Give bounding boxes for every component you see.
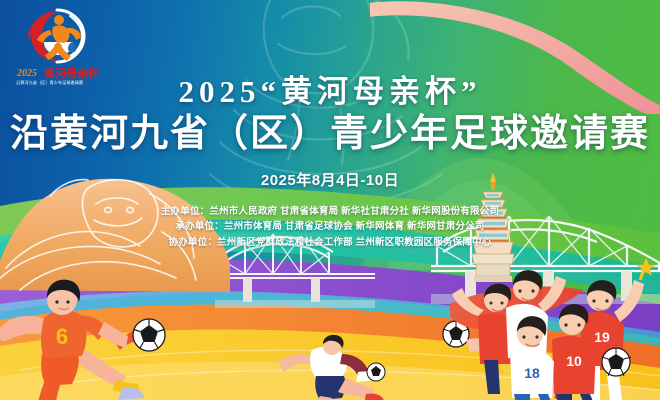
player-group-celebrating: 13 19 — [444, 254, 660, 400]
player-center-kicking — [272, 328, 392, 400]
event-logo[interactable]: 2025 黄河母亲杯 沿黄河九省（区）青少年足球邀请赛 — [14, 8, 100, 86]
poster-text-block: 2025“黄河母亲杯” 沿黄河九省（区）青少年足球邀请赛 2025年8月4日-1… — [0, 76, 660, 250]
organizer-row-undertaker: 承办单位：兰州市体育局 甘肃省足球协会 新华网体育 新华网甘肃分公司 — [0, 219, 660, 234]
organizer-list: 主办单位：兰州市人民政府 甘肃省体育局 新华社甘肃分社 新华网股份有限公司 承办… — [0, 204, 660, 250]
svg-text:沿黄河九省（区）青少年足球邀请赛: 沿黄河九省（区）青少年足球邀请赛 — [16, 79, 84, 86]
svg-text:19: 19 — [594, 329, 610, 345]
svg-text:黄河母亲杯: 黄河母亲杯 — [44, 66, 100, 80]
event-logo-emblem-icon — [26, 8, 88, 64]
poster-banner: 6 — [0, 0, 660, 400]
svg-text:18: 18 — [524, 365, 540, 381]
organizer-row-host: 主办单位：兰州市人民政府 甘肃省体育局 新华社甘肃分社 新华网股份有限公司 — [0, 204, 660, 219]
page-subtitle: 沿黄河九省（区）青少年足球邀请赛 — [0, 113, 660, 156]
svg-text:2025: 2025 — [16, 68, 37, 79]
event-date: 2025年8月4日-10日 — [0, 169, 660, 190]
svg-text:10: 10 — [566, 353, 582, 369]
event-logo-wordmark: 2025 黄河母亲杯 沿黄河九省（区）青少年足球邀请赛 — [14, 64, 100, 86]
player-left-kicking: 6 — [0, 262, 144, 400]
svg-text:6: 6 — [56, 324, 68, 349]
organizer-row-coorganizer: 协办单位：兰州新区党群政法和社会工作部 兰州新区职教园区服务保障中心 — [0, 235, 660, 250]
